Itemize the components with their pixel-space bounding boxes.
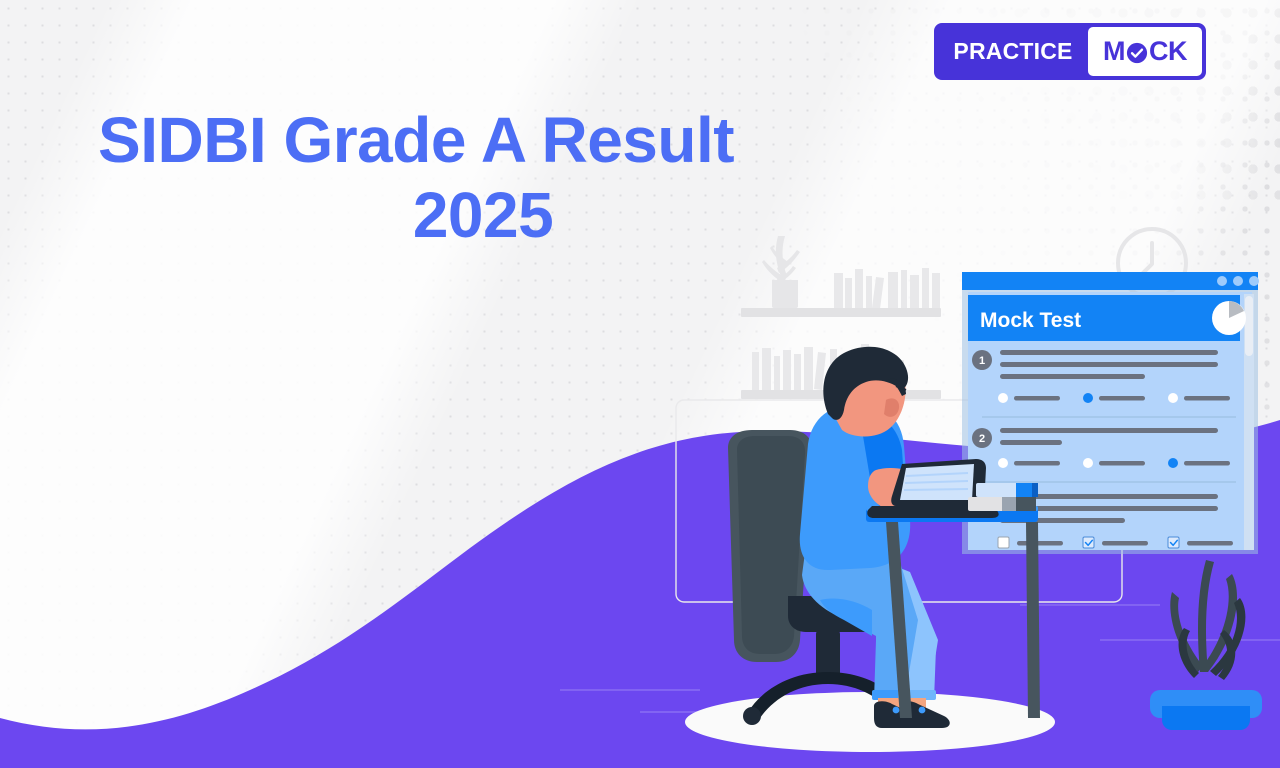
q3-option-2-checkbox-checked — [1083, 537, 1094, 548]
book-stack — [968, 483, 1038, 511]
page-title: SIDBI Grade A Result 2025 — [98, 103, 868, 253]
q3-option-3-checkbox-checked — [1168, 537, 1179, 548]
window-scrollbar-thumb — [1245, 296, 1253, 356]
window-dot-1 — [1217, 276, 1227, 286]
logo-mock-ck: CK — [1149, 36, 1187, 67]
shelf-books-upper — [834, 268, 940, 309]
q1-option-2-radio-selected — [1083, 393, 1093, 403]
circle-check-icon — [1126, 42, 1148, 64]
question-2-number: 2 — [979, 433, 985, 445]
window-dot-3 — [1249, 276, 1259, 286]
logo-mock-m: M — [1103, 36, 1125, 67]
logo-right-panel: M CK — [1088, 27, 1202, 76]
window-title-bar — [962, 272, 1258, 290]
window-dot-2 — [1233, 276, 1243, 286]
logo-practice-text: PRACTICE — [953, 38, 1072, 65]
floor-shadow — [685, 692, 1055, 752]
page-title-line2: 2025 — [98, 178, 868, 253]
q2-option-1-radio — [998, 458, 1008, 468]
q1-option-3-radio — [1168, 393, 1178, 403]
q2-option-3-radio-selected — [1168, 458, 1178, 468]
logo-mock-text: M CK — [1103, 36, 1187, 67]
q3-option-1-checkbox — [998, 537, 1009, 548]
q2-option-2-radio — [1083, 458, 1093, 468]
pie-chart-icon — [1212, 301, 1246, 335]
poster-canvas: 1 — [0, 0, 1280, 768]
page-title-line1: SIDBI Grade A Result — [98, 103, 868, 178]
question-1-number: 1 — [979, 355, 985, 367]
shelf-board-upper — [741, 308, 941, 317]
q1-option-1-radio — [998, 393, 1008, 403]
mock-test-title: Mock Test — [980, 309, 1081, 332]
practicemock-logo[interactable]: PRACTICE M CK — [934, 23, 1206, 80]
logo-left-panel: PRACTICE — [938, 27, 1088, 76]
